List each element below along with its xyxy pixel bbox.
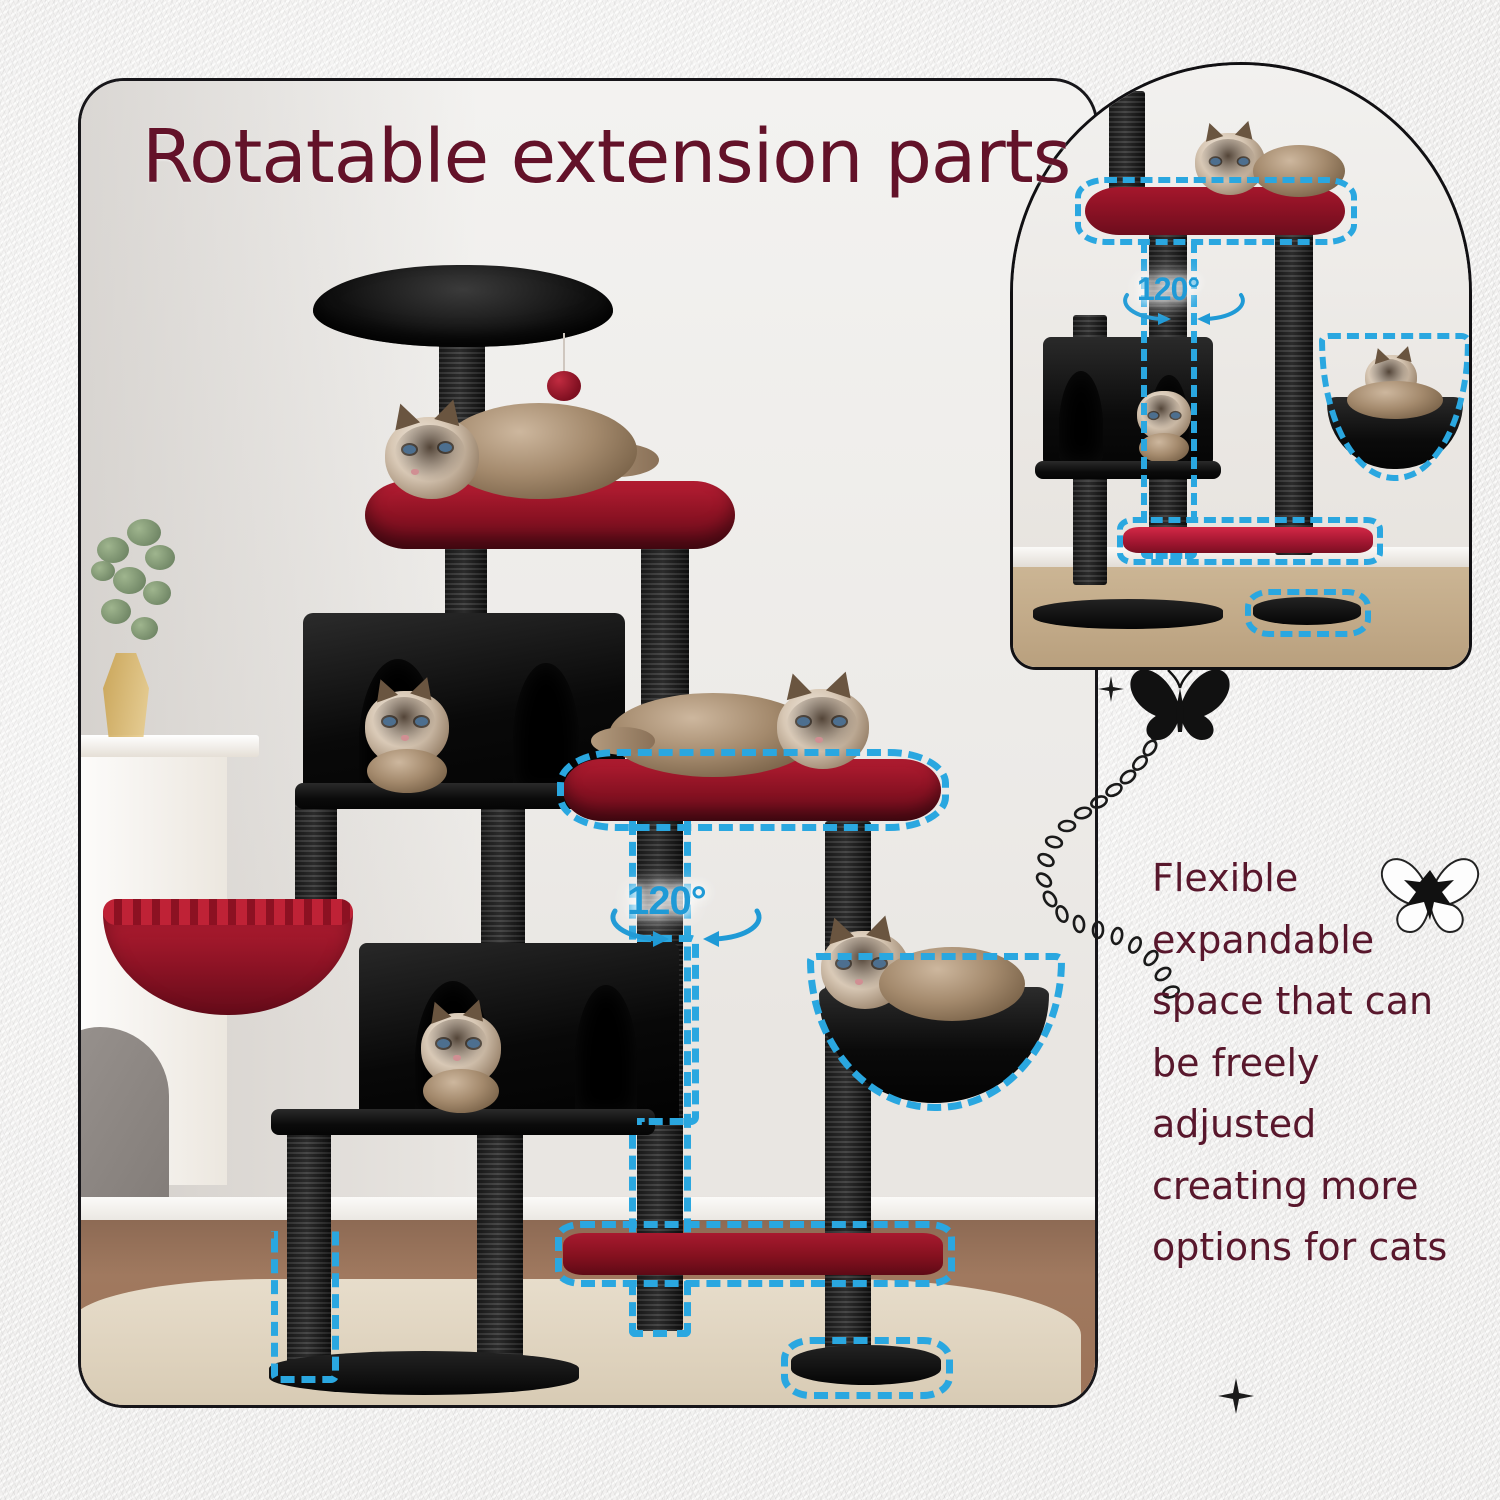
cat-on-top-platform [377, 381, 647, 501]
inset-post-right [1275, 225, 1313, 555]
base-plate-right [791, 1345, 941, 1385]
post-lower-center [477, 1123, 523, 1369]
cat-in-upper-condo [361, 673, 457, 795]
infographic-page: 120° Rotatable extension parts [0, 0, 1500, 1500]
inset-red-lower-shelf [1123, 527, 1373, 553]
post-lower-left [287, 1117, 331, 1367]
top-black-bowl-perch [313, 265, 613, 347]
area-rug [78, 1279, 1081, 1408]
inset-cat-in-condo [1133, 385, 1195, 465]
main-product-photo-card: 120° [78, 78, 1098, 1408]
base-plate-center [269, 1351, 579, 1395]
inset-base-plate-main [1033, 599, 1223, 629]
inset-cat-on-top-platform [1153, 125, 1353, 201]
left-red-hammock-rim [103, 899, 353, 925]
post-mid-center [481, 795, 525, 955]
eucalyptus-plant [87, 515, 197, 665]
inset-condo-floor [1035, 461, 1221, 479]
page-title: Rotatable extension parts [142, 120, 1070, 194]
butterfly-solid-icon [1126, 660, 1234, 746]
inset-rotated-configuration-panel: 120° [1010, 62, 1472, 670]
rotation-badge-main-label: 120° [601, 881, 761, 921]
pom-pom-string [563, 333, 565, 375]
post-hammock-right [825, 821, 871, 1369]
red-bottom-shelf [563, 1233, 943, 1275]
cat-on-middle-shelf [591, 667, 891, 777]
rotation-badge-inset: 120° [1117, 273, 1241, 329]
inset-base-plate-right [1253, 597, 1361, 625]
cabinet-top-ledge [78, 735, 259, 757]
inset-cat-in-hammock [1335, 353, 1455, 419]
sparkle-star-bottom-icon [1218, 1378, 1254, 1414]
sparkle-star-icon [1098, 676, 1124, 702]
rotation-badge-inset-label: 120° [1117, 273, 1241, 305]
rotation-badge-main: 120° [601, 881, 761, 951]
cat-in-lower-condo [417, 997, 509, 1115]
cat-in-black-hammock [815, 917, 1035, 1027]
feature-description-text: Flexible expandable space that can be fr… [1152, 848, 1482, 1279]
